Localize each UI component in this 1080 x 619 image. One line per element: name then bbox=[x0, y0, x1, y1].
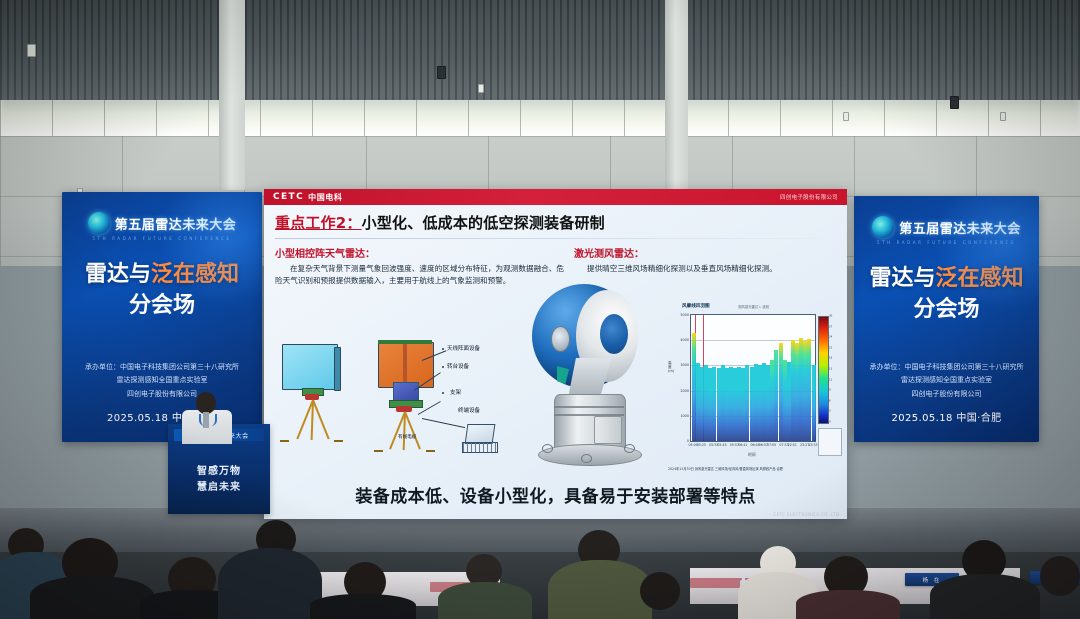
chart-footer: 2024年12月30日 测风激光雷达 三维风场/径向风/垂直风场反演 风廓线产品… bbox=[668, 466, 783, 471]
chart-ytick: 2000 bbox=[680, 389, 689, 393]
base-ring bbox=[554, 406, 624, 408]
tripod-leg bbox=[312, 400, 330, 440]
radar-illustration: 天线阵面设备 转台设备 支架 终端设备 有线电缆 bbox=[272, 338, 527, 470]
banner-footer: 承办单位：中国电子科技集团公司第三十八研究所 雷达探测感知全国重点实验室 四创电… bbox=[62, 361, 262, 428]
upper-wall bbox=[0, 0, 1080, 100]
audience-person bbox=[438, 582, 532, 619]
lifting-eyelet bbox=[624, 444, 635, 453]
callout-bracket: 支架 bbox=[450, 388, 461, 396]
session-title-b: 泛在感知 bbox=[936, 266, 1024, 291]
tripod-foot bbox=[334, 440, 343, 442]
audience-person bbox=[930, 574, 1040, 619]
colorbar-tick: 21 bbox=[829, 346, 832, 349]
chart-ylabel: 高度(m) bbox=[668, 362, 674, 373]
title-rule bbox=[275, 238, 836, 239]
session-title: 雷达与泛在感知 分会场 bbox=[62, 261, 262, 320]
callout-terminal: 终端设备 bbox=[458, 406, 480, 414]
conference-title: 第五届雷达未来大会 bbox=[899, 218, 1021, 237]
tripod-foot bbox=[374, 450, 383, 452]
chart-ytick: 4000 bbox=[680, 338, 689, 342]
lidar-access-hatch bbox=[594, 416, 622, 444]
slide-header: CETC 中国电科 四创电子股份有限公司 bbox=[264, 189, 847, 205]
wall-lamp bbox=[843, 112, 849, 121]
pillar-left bbox=[219, 0, 245, 190]
banner-left: 第五届雷达未来大会 5TH RADAR FUTURE CONFERENCE 雷达… bbox=[62, 192, 262, 442]
tripod-foot bbox=[280, 440, 289, 442]
callout-turntable: 转台设备 bbox=[447, 362, 469, 370]
podium-slogan: 智感万物 慧启未来 bbox=[168, 464, 270, 495]
colorbar-tick: 0 bbox=[829, 421, 831, 424]
callout-leader bbox=[422, 418, 465, 428]
chart-xtick: 22:51 bbox=[788, 443, 797, 447]
audience-person bbox=[310, 594, 416, 619]
tripod-leg bbox=[311, 400, 314, 440]
lidar-device-illustration bbox=[524, 284, 652, 470]
slide-title-prefix: 重点工作2： bbox=[275, 214, 362, 232]
tripod-leg bbox=[403, 412, 406, 450]
colorbar-tick: 18 bbox=[829, 357, 832, 360]
podium-slogan-line2: 慧启未来 bbox=[168, 480, 270, 496]
callout-cable: 有线电缆 bbox=[398, 434, 416, 440]
chart-xtick: 06:41 bbox=[738, 443, 747, 447]
colorbar-tick: 27 bbox=[829, 325, 832, 328]
conference-date-city: 2025.05.18 中国·合肥 bbox=[854, 409, 1039, 429]
banner-right: 第五届雷达未来大会 5TH RADAR FUTURE CONFERENCE 雷达… bbox=[854, 196, 1039, 442]
colorbar-tick: 15 bbox=[829, 368, 832, 371]
host-line-1: 承办单位：中国电子科技集团公司第三十八研究所 bbox=[62, 361, 262, 375]
tripod-foot bbox=[426, 450, 435, 452]
colorbar-tick: 24 bbox=[829, 336, 832, 339]
audience-person bbox=[30, 576, 154, 619]
colorbar-tick: 6 bbox=[829, 399, 831, 402]
colorbar-tick: 12 bbox=[829, 378, 832, 381]
callout-antenna: 天线阵面设备 bbox=[447, 344, 480, 352]
chart-xlabel: 时间 bbox=[748, 452, 756, 458]
speaker-head bbox=[196, 392, 216, 414]
callout-dot bbox=[442, 348, 444, 350]
colorbar-tick: 3 bbox=[829, 410, 831, 413]
slide-title-rest: 小型化、低成本的低空探测装备研制 bbox=[362, 214, 605, 232]
host-line-1: 承办单位：中国电子科技集团公司第三十八研究所 bbox=[854, 361, 1039, 375]
audience-person bbox=[796, 590, 900, 619]
chart-title: 风廓线风羽图 bbox=[682, 303, 710, 309]
right-heading: 激光测风雷达： bbox=[574, 245, 847, 260]
session-title-a: 雷达与 bbox=[85, 262, 151, 287]
banner-logo-row: 第五届雷达未来大会 bbox=[854, 216, 1039, 238]
audience-person bbox=[218, 548, 322, 619]
wall-speaker bbox=[950, 96, 959, 109]
chart-xtick: 23:33 bbox=[808, 443, 817, 447]
slide-columns: 小型相控阵天气雷达： 在复杂天气背景下测量气象回波强度、速度的区域分布特征，为观… bbox=[264, 245, 847, 287]
host-line-2: 雷达探测感知全国重点实验室 bbox=[62, 374, 262, 388]
left-heading: 小型相控阵天气雷达： bbox=[275, 245, 564, 260]
colorbar-tick: 9 bbox=[829, 389, 831, 392]
colorbar-tick: 30 bbox=[829, 315, 832, 318]
cetc-logo: CETC 中国电科 bbox=[273, 192, 343, 203]
cetc-logo-cn: 中国电科 bbox=[308, 192, 342, 203]
callout-dot bbox=[442, 366, 444, 368]
cetc-logo-en: CETC bbox=[273, 192, 304, 202]
clerestory-windows bbox=[0, 100, 1080, 136]
chart-ytick: 3000 bbox=[680, 363, 689, 367]
audience-head bbox=[640, 572, 680, 610]
conference-photo: 第五届雷达未来大会 5TH RADAR FUTURE CONFERENCE 雷达… bbox=[0, 0, 1080, 619]
presentation-slide: CETC 中国电科 四创电子股份有限公司 重点工作2：小型化、低成本的低空探测装… bbox=[264, 189, 847, 519]
left-body: 在复杂天气背景下测量气象回波强度、速度的区域分布特征，为观测数据融合、危险天气识… bbox=[275, 263, 564, 287]
audience-head bbox=[1040, 556, 1080, 596]
wall-lamp bbox=[478, 84, 484, 93]
lifting-eyelet bbox=[542, 444, 553, 453]
tripod-leg bbox=[404, 412, 421, 450]
podium-slogan-line1: 智感万物 bbox=[168, 464, 270, 480]
conference-title: 第五届雷达未来大会 bbox=[115, 214, 237, 233]
host-line-3: 四创电子股份有限公司 bbox=[854, 388, 1039, 402]
chart-plot-area: 01000200030004000500005:0905:2505:3305:4… bbox=[690, 314, 816, 442]
banner-logo-row: 第五届雷达未来大会 bbox=[62, 212, 262, 234]
lidar-aperture-right bbox=[600, 314, 628, 354]
conference-subtitle: 5TH RADAR FUTURE CONFERENCE bbox=[854, 240, 1039, 245]
wind-profile-column bbox=[812, 365, 816, 441]
wall-lamp bbox=[1000, 112, 1006, 121]
antenna-array-1 bbox=[282, 344, 338, 390]
session-title-a: 雷达与 bbox=[869, 266, 935, 291]
chart-subtitle: 测风激光雷达 L 波段 bbox=[738, 304, 769, 309]
chart-xtick: 05:25 bbox=[697, 443, 706, 447]
column-left: 小型相控阵天气雷达： 在复杂天气背景下测量气象回波强度、速度的区域分布特征，为观… bbox=[264, 245, 564, 287]
callout-dot bbox=[442, 392, 444, 394]
lidar-lens-icon bbox=[551, 326, 570, 352]
antenna-centerline bbox=[403, 344, 407, 384]
wall-speaker bbox=[437, 66, 446, 79]
session-title-b: 泛在感知 bbox=[151, 262, 239, 287]
chart-xtick: 07:05 bbox=[767, 443, 776, 447]
host-line-3: 四创电子股份有限公司 bbox=[62, 388, 262, 402]
pillar-right bbox=[665, 0, 688, 190]
session-title-c: 分会场 bbox=[62, 292, 262, 320]
chart-ytick: 1000 bbox=[680, 414, 689, 418]
slide-title: 重点工作2：小型化、低成本的低空探测装备研制 bbox=[275, 212, 847, 233]
conference-subtitle: 5TH RADAR FUTURE CONFERENCE bbox=[62, 236, 262, 241]
host-line-2: 雷达探测感知全国重点实验室 bbox=[854, 374, 1039, 388]
chart-ytick: 5000 bbox=[680, 313, 689, 317]
column-right: 激光测风雷达： 提供晴空三维风场精细化探测以及垂直风场精细化探测。 bbox=[564, 245, 847, 287]
audience-person bbox=[548, 560, 652, 619]
chart-mini-legend bbox=[818, 428, 842, 456]
slide-tagline: 装备成本低、设备小型化，具备易于安装部署等特点 bbox=[264, 482, 847, 507]
conference-logo-icon bbox=[88, 212, 110, 234]
conference-logo-icon bbox=[872, 216, 894, 238]
right-body: 提供晴空三维风场精细化探测以及垂直风场精细化探测。 bbox=[574, 263, 847, 275]
antenna-side-1 bbox=[334, 347, 341, 391]
banner-footer: 承办单位：中国电子科技集团公司第三十八研究所 雷达探测感知全国重点实验室 四创电… bbox=[854, 361, 1039, 428]
wind-profile-chart: 风廓线风羽图 测风激光雷达 L 波段 高度(m) 010002000300040… bbox=[666, 302, 844, 476]
wall-lamp bbox=[27, 44, 36, 57]
corporation-name: 四创电子股份有限公司 bbox=[780, 193, 838, 201]
chart-xtick: 05:45 bbox=[717, 443, 726, 447]
lifting-eyelet bbox=[581, 454, 592, 463]
session-title: 雷达与泛在感知 分会场 bbox=[854, 265, 1039, 324]
chart-colorbar bbox=[818, 316, 829, 424]
session-title-c: 分会场 bbox=[854, 296, 1039, 324]
speaker-lanyard bbox=[199, 414, 217, 426]
slide-watermark: CETC ELECTRONICS CO.,LTD. bbox=[773, 512, 841, 517]
